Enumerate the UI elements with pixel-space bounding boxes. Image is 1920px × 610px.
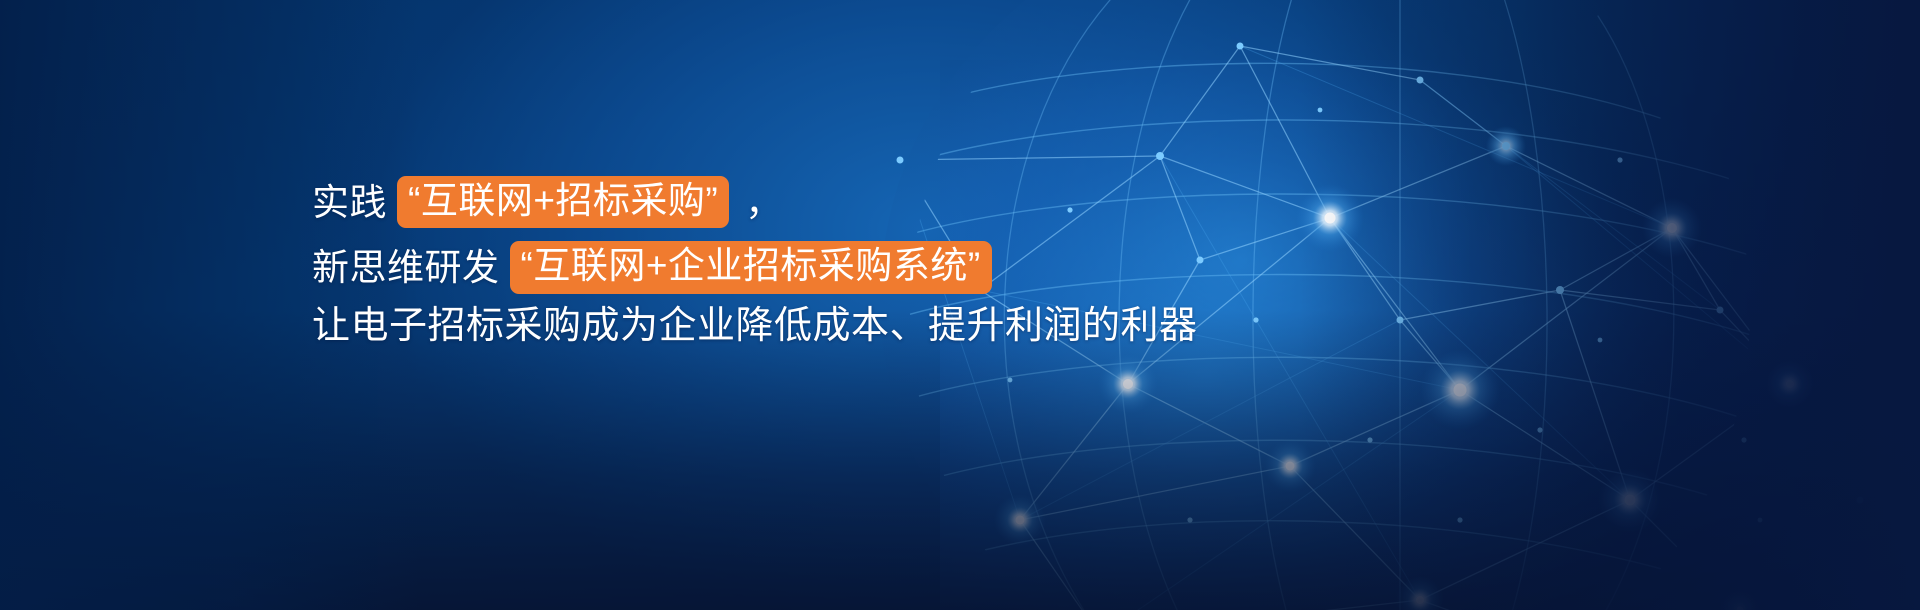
- headline-line-2-prefix: 新思维研发: [312, 249, 500, 286]
- headline-line-1-highlight: “互联网+招标采购”: [397, 176, 729, 228]
- headline-line-3: 让电子招标采购成为企业降低成本、提升利润的利器: [312, 307, 1072, 345]
- headline-block: 实践 “互联网+招标采购” ， 新思维研发 “互联网+企业招标采购系统” 让电子…: [312, 176, 1072, 345]
- headline-line-3-text: 让电子招标采购成为企业降低成本、提升利润的利器: [312, 307, 1198, 345]
- headline-line-1-suffix: ，: [741, 184, 783, 221]
- background-vignette-right: [1300, 0, 1920, 610]
- headline-line-2: 新思维研发 “互联网+企业招标采购系统”: [312, 241, 1072, 293]
- headline-line-1-prefix: 实践: [312, 184, 387, 221]
- headline-line-1: 实践 “互联网+招标采购” ，: [312, 176, 1072, 228]
- headline-line-2-highlight: “互联网+企业招标采购系统”: [510, 241, 992, 293]
- hero-banner: 实践 “互联网+招标采购” ， 新思维研发 “互联网+企业招标采购系统” 让电子…: [0, 0, 1920, 610]
